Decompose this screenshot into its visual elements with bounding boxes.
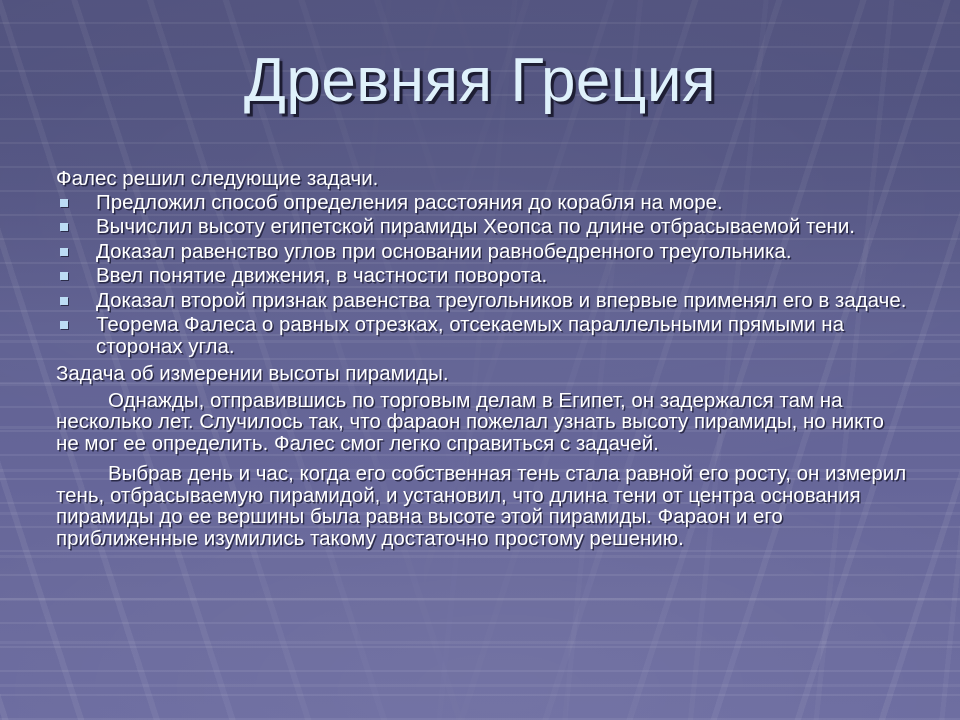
paragraph-shadow-solution: Выбрав день и час, когда его собственная… [56, 463, 912, 549]
list-item: Вычислил высоту египетской пирамиды Хеоп… [56, 216, 912, 238]
paragraph-pyramid-story: Однажды, отправившись по торговым делам … [56, 390, 912, 455]
square-bullet-icon [60, 248, 68, 256]
list-item-text: Предложил способ определения расстояния … [96, 191, 723, 214]
list-item: Теорема Фалеса о равных отрезках, отсека… [56, 314, 912, 357]
list-item: Предложил способ определения расстояния … [56, 192, 912, 214]
list-item-text: Доказал второй признак равенства треугол… [96, 289, 906, 312]
presentation-slide: Древняя Греция Фалес решил следующие зад… [0, 0, 960, 720]
list-item-text: Доказал равенство углов при основании ра… [96, 240, 792, 263]
list-item-text: Ввел понятие движения, в частности повор… [96, 264, 547, 287]
body-intro-line: Фалес решил следующие задачи. [56, 168, 912, 190]
square-bullet-icon [60, 297, 68, 305]
task-bullet-list: Предложил способ определения расстояния … [56, 192, 912, 358]
list-item: Доказал равенство углов при основании ра… [56, 241, 912, 263]
slide-body: Фалес решил следующие задачи. Предложил … [56, 168, 912, 549]
list-item: Ввел понятие движения, в частности повор… [56, 265, 912, 287]
section-heading: Задача об измерении высоты пирамиды. [56, 363, 912, 385]
square-bullet-icon [60, 321, 68, 329]
square-bullet-icon [60, 223, 68, 231]
list-item: Доказал второй признак равенства треугол… [56, 290, 912, 312]
square-bullet-icon [60, 272, 68, 280]
list-item-text: Теорема Фалеса о равных отрезках, отсека… [96, 313, 844, 358]
slide-title: Древняя Греция [0, 48, 960, 113]
list-item-text: Вычислил высоту египетской пирамиды Хеоп… [96, 215, 855, 238]
square-bullet-icon [60, 199, 68, 207]
